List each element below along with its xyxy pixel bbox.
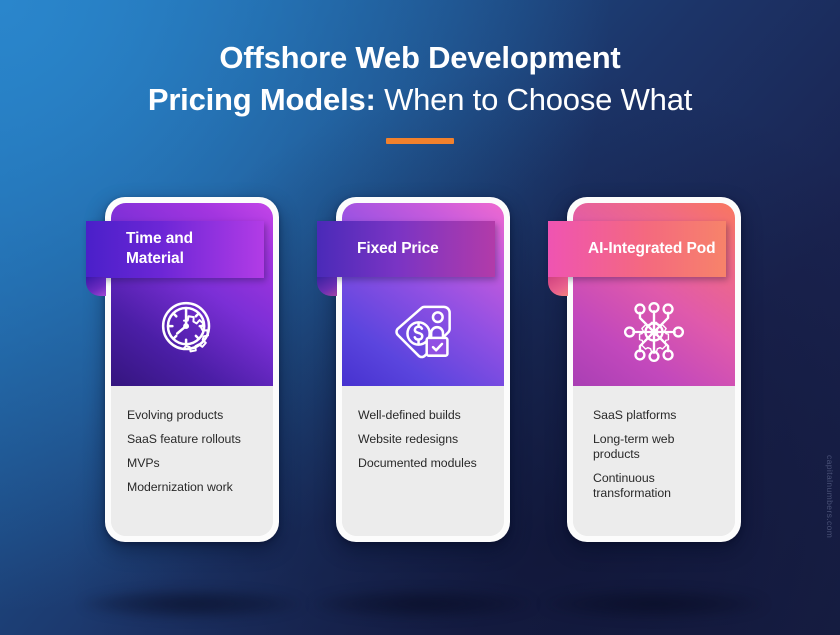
- list-item: MVPs: [127, 456, 261, 471]
- card-ribbon-tail: [317, 277, 337, 296]
- card-ribbon-tail: [86, 277, 106, 296]
- list-item: Website redesigns: [358, 432, 492, 447]
- list-item: Well-defined builds: [358, 408, 492, 423]
- pricing-card-time-and-material[interactable]: Evolving products SaaS feature rollouts …: [105, 197, 279, 542]
- card-ribbon: Fixed Price: [317, 221, 495, 277]
- card-title: AI-Integrated Pod: [588, 239, 715, 259]
- pricing-card-fixed-price[interactable]: Well-defined builds Website redesigns Do…: [336, 197, 510, 542]
- list-item: Modernization work: [127, 480, 261, 495]
- card-ribbon: AI-Integrated Pod: [548, 221, 726, 277]
- card-drop-shadow: [81, 589, 303, 619]
- card-list: SaaS platforms Long-term web products Co…: [573, 386, 735, 536]
- svg-text:AI: AI: [649, 328, 659, 339]
- page-title-emphasis: Pricing Models:: [148, 82, 376, 117]
- title-underline-accent: [386, 138, 454, 144]
- list-item: Continuous transformation: [593, 471, 723, 501]
- list-item: Long-term web products: [593, 432, 723, 462]
- card-drop-shadow: [312, 589, 534, 619]
- card-ribbon-tail: [548, 277, 568, 296]
- card-ribbon: Time and Material: [86, 221, 264, 278]
- price-tag-lock-icon: [342, 295, 504, 369]
- card-ribbon-body: Time and Material: [86, 221, 264, 278]
- page-title-line2: Pricing Models: When to Choose What: [0, 80, 840, 120]
- card-title: Fixed Price: [357, 239, 439, 259]
- clock-gear-icon: [111, 295, 273, 369]
- card-list: Well-defined builds Website redesigns Do…: [342, 386, 504, 536]
- header: Offshore Web Development Pricing Models:…: [0, 0, 840, 144]
- card-ribbon-body: Fixed Price: [317, 221, 495, 277]
- watermark: capitalnumbers.com: [825, 455, 835, 538]
- list-item: Evolving products: [127, 408, 261, 423]
- card-drop-shadow: [543, 589, 765, 619]
- pricing-model-cards: Evolving products SaaS feature rollouts …: [0, 197, 840, 547]
- card-list: Evolving products SaaS feature rollouts …: [111, 386, 273, 536]
- card-title: Time and Material: [126, 229, 254, 269]
- card-ribbon-body: AI-Integrated Pod: [548, 221, 726, 277]
- page-title-rest: When to Choose What: [376, 82, 693, 117]
- list-item: SaaS platforms: [593, 408, 723, 423]
- list-item: Documented modules: [358, 456, 492, 471]
- list-item: SaaS feature rollouts: [127, 432, 261, 447]
- page-title-line1: Offshore Web Development: [0, 38, 840, 78]
- ai-network-gear-icon: AI: [573, 295, 735, 369]
- pricing-card-ai-integrated-pod[interactable]: AI SaaS platforms Long-term web products…: [567, 197, 741, 542]
